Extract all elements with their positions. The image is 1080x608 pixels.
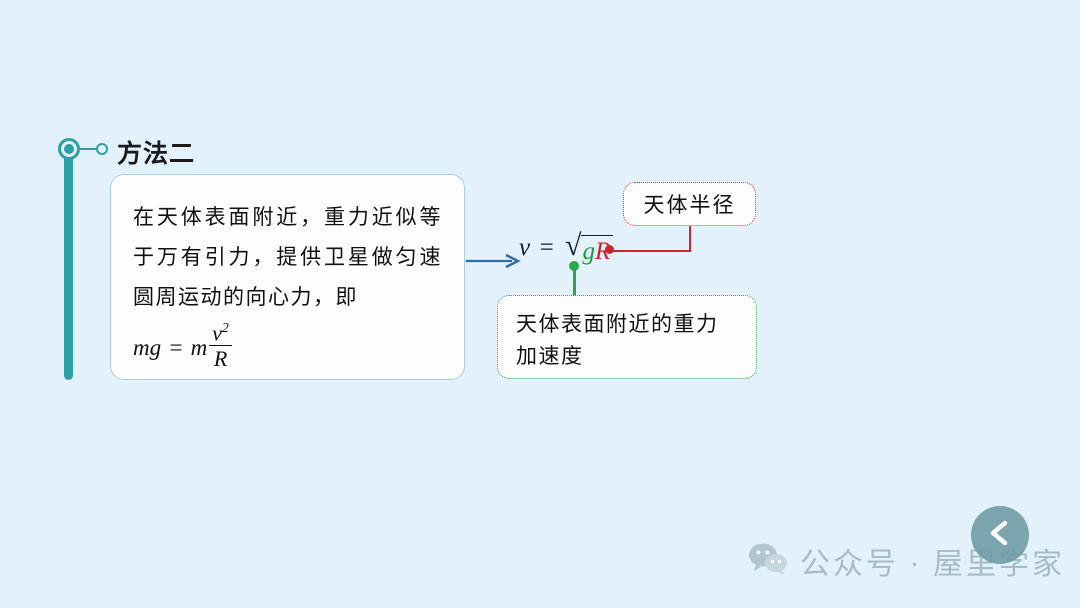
page-title: 方法二: [117, 134, 195, 170]
slide-canvas: 方法二 在天体表面附近，重力近似等于万有引力，提供卫星做匀速圆周运动的向心力，即…: [0, 0, 1080, 608]
eq-term-g: g: [150, 335, 162, 361]
back-button[interactable]: [971, 506, 1029, 564]
callout-radius-anchor-dot: [605, 245, 614, 254]
callout-radius-label: 天体半径: [644, 189, 736, 219]
result-equals-sign: =: [538, 234, 555, 262]
result-variable-v: v: [519, 234, 530, 262]
eq-fraction-numerator: v2: [209, 321, 232, 346]
timeline-node-small-circle: [96, 143, 108, 155]
timeline-node-center: [64, 144, 74, 154]
callout-gravity: 天体表面附近的重力加速度: [497, 295, 757, 379]
callout-gravity-anchor-dot: [569, 261, 579, 271]
callout-gravity-label: 天体表面附近的重力加速度: [516, 308, 738, 372]
chevron-left-icon: [987, 519, 1013, 552]
wechat-icon: [748, 542, 788, 581]
eq-term-m: m: [133, 335, 150, 361]
eq-equals-sign: =: [168, 335, 184, 361]
eq-term-m2: m: [191, 335, 208, 361]
equation-mg-equals-mv2-over-R: mg = m v2 R: [133, 323, 234, 373]
method-paragraph: 在天体表面附近，重力近似等于万有引力，提供卫星做匀速圆周运动的向心力，即: [133, 197, 442, 317]
arrow-right-icon: [466, 253, 522, 274]
method-description-box: 在天体表面附近，重力近似等于万有引力，提供卫星做匀速圆周运动的向心力，即 mg …: [110, 174, 465, 380]
callout-radius: 天体半径: [623, 182, 756, 226]
radicand-g: g: [582, 238, 595, 265]
eq-fraction-v2-over-R: v2 R: [209, 321, 232, 371]
timeline-bar: [64, 152, 73, 380]
callout-radius-leader-horizontal: [611, 250, 691, 252]
eq-fraction-denominator: R: [211, 346, 230, 370]
radical-icon: √: [565, 232, 581, 264]
callout-radius-leader-vertical: [689, 226, 691, 252]
result-equation: v = √ gR: [519, 234, 613, 266]
